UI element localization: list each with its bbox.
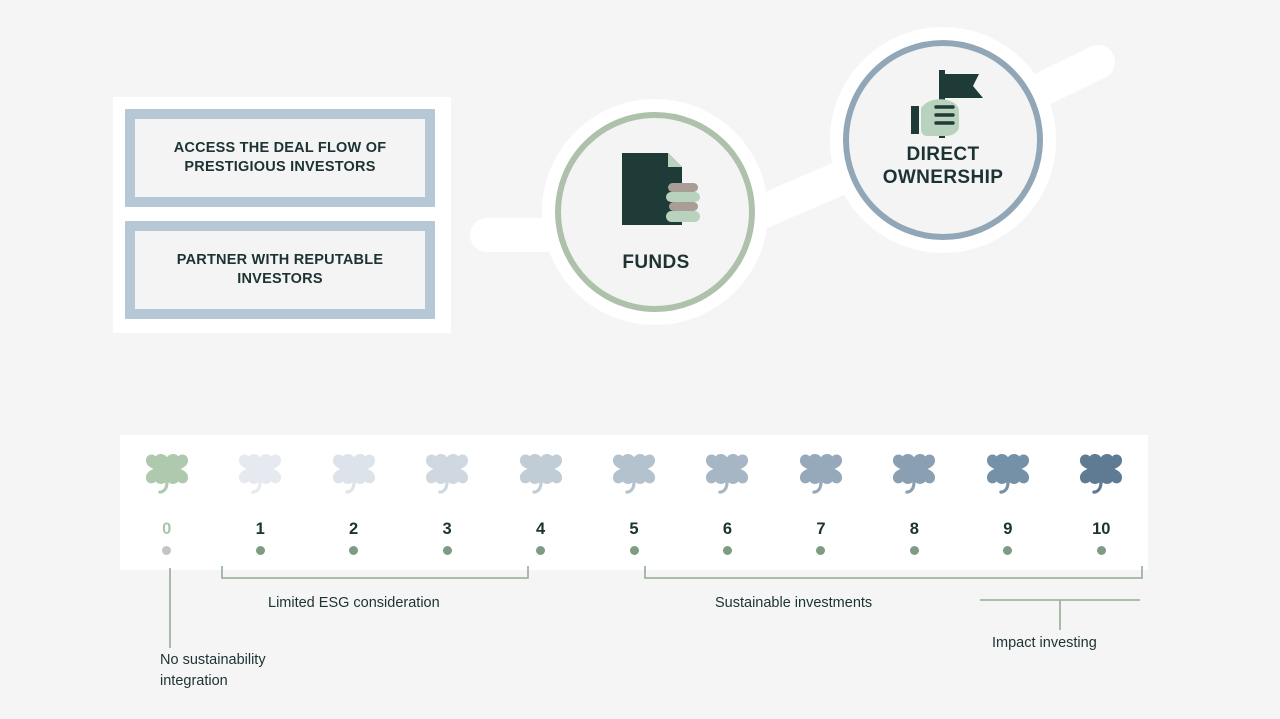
flow-node-direct-ownership[interactable] xyxy=(830,27,1056,253)
four-leaf-clover-icon xyxy=(518,449,564,499)
flow-node-direct-ownership-label: DIRECT OWNERSHIP xyxy=(853,144,1033,190)
scale-dot xyxy=(723,546,732,555)
scale-step-10[interactable]: 10 xyxy=(1057,435,1145,570)
four-leaf-clover-icon xyxy=(1078,449,1124,499)
clover-wrap xyxy=(216,435,304,515)
clover-wrap xyxy=(403,435,491,515)
scale-step-3[interactable]: 3 xyxy=(403,435,491,570)
investor-benefits-panel: ACCESS THE DEAL FLOW OF PRESTIGIOUS INVE… xyxy=(113,97,451,333)
annotation-impact-investing: Impact investing xyxy=(992,633,1097,654)
clover-wrap xyxy=(497,435,585,515)
annotation-no-sustainability-line1: No sustainability xyxy=(160,652,266,668)
clover-wrap xyxy=(310,435,398,515)
scale-step-2[interactable]: 2 xyxy=(310,435,398,570)
scale-number: 9 xyxy=(964,521,1052,538)
scale-dot xyxy=(630,546,639,555)
four-leaf-clover-icon xyxy=(237,449,283,499)
four-leaf-clover-icon xyxy=(424,449,470,499)
scale-number: 3 xyxy=(403,521,491,538)
scale-dot xyxy=(910,546,919,555)
clover-wrap xyxy=(123,435,211,515)
scale-step-7[interactable]: 7 xyxy=(777,435,865,570)
scale-number: 8 xyxy=(870,521,958,538)
annotation-limited-esg: Limited ESG consideration xyxy=(268,593,440,614)
four-leaf-clover-icon xyxy=(704,449,750,499)
scale-step-6[interactable]: 6 xyxy=(683,435,771,570)
scale-number: 2 xyxy=(310,521,398,538)
infographic-canvas: FUNDS DIRECT OWNERSHIP ACCESS THE DEAL F… xyxy=(0,0,1280,719)
four-leaf-clover-icon xyxy=(985,449,1031,499)
hand-holding-flag-icon xyxy=(903,68,987,140)
clover-wrap xyxy=(964,435,1052,515)
scale-number: 10 xyxy=(1057,521,1145,538)
clover-wrap xyxy=(1057,435,1145,515)
callout-label: ACCESS THE DEAL FLOW OF PRESTIGIOUS INVE… xyxy=(135,139,425,178)
scale-number: 5 xyxy=(590,521,678,538)
four-leaf-clover-icon xyxy=(798,449,844,499)
scale-step-9[interactable]: 9 xyxy=(964,435,1052,570)
scale-dot xyxy=(256,546,265,555)
annotation-sustainable-investments: Sustainable investments xyxy=(715,593,872,614)
callout-label: PARTNER WITH REPUTABLE INVESTORS xyxy=(135,251,425,290)
four-leaf-clover-icon xyxy=(331,449,377,499)
connector-stub-upper-right xyxy=(1010,62,1098,105)
scale-dot xyxy=(1003,546,1012,555)
callout-box-partner-reputable[interactable]: PARTNER WITH REPUTABLE INVESTORS xyxy=(125,221,435,319)
annotation-no-sustainability: No sustainability integration xyxy=(160,650,320,692)
scale-number: 6 xyxy=(683,521,771,538)
document-with-coins-icon xyxy=(612,145,704,237)
scale-number: 1 xyxy=(216,521,304,538)
four-leaf-clover-icon xyxy=(611,449,657,499)
annotation-no-sustainability-line2: integration xyxy=(160,673,228,689)
clover-wrap xyxy=(590,435,678,515)
clover-wrap xyxy=(870,435,958,515)
scale-step-0[interactable]: 0 xyxy=(123,435,211,570)
scale-step-4[interactable]: 4 xyxy=(497,435,585,570)
scale-step-5[interactable]: 5 xyxy=(590,435,678,570)
scale-step-8[interactable]: 8 xyxy=(870,435,958,570)
scale-number: 7 xyxy=(777,521,865,538)
direct-halo xyxy=(830,27,1056,253)
scale-dot xyxy=(1097,546,1106,555)
sustainability-scale-panel: 012345678910 xyxy=(120,435,1148,570)
four-leaf-clover-icon xyxy=(144,449,190,499)
scale-dot xyxy=(162,546,171,555)
four-leaf-clover-icon xyxy=(891,449,937,499)
scale-number: 0 xyxy=(123,521,211,538)
scale-dot xyxy=(816,546,825,555)
callout-box-access-deal-flow[interactable]: ACCESS THE DEAL FLOW OF PRESTIGIOUS INVE… xyxy=(125,109,435,207)
scale-dot xyxy=(536,546,545,555)
scale-dot xyxy=(443,546,452,555)
scale-step-1[interactable]: 1 xyxy=(216,435,304,570)
scale-dot xyxy=(349,546,358,555)
flow-node-funds-label: FUNDS xyxy=(566,252,746,275)
clover-wrap xyxy=(683,435,771,515)
scale-number: 4 xyxy=(497,521,585,538)
clover-wrap xyxy=(777,435,865,515)
